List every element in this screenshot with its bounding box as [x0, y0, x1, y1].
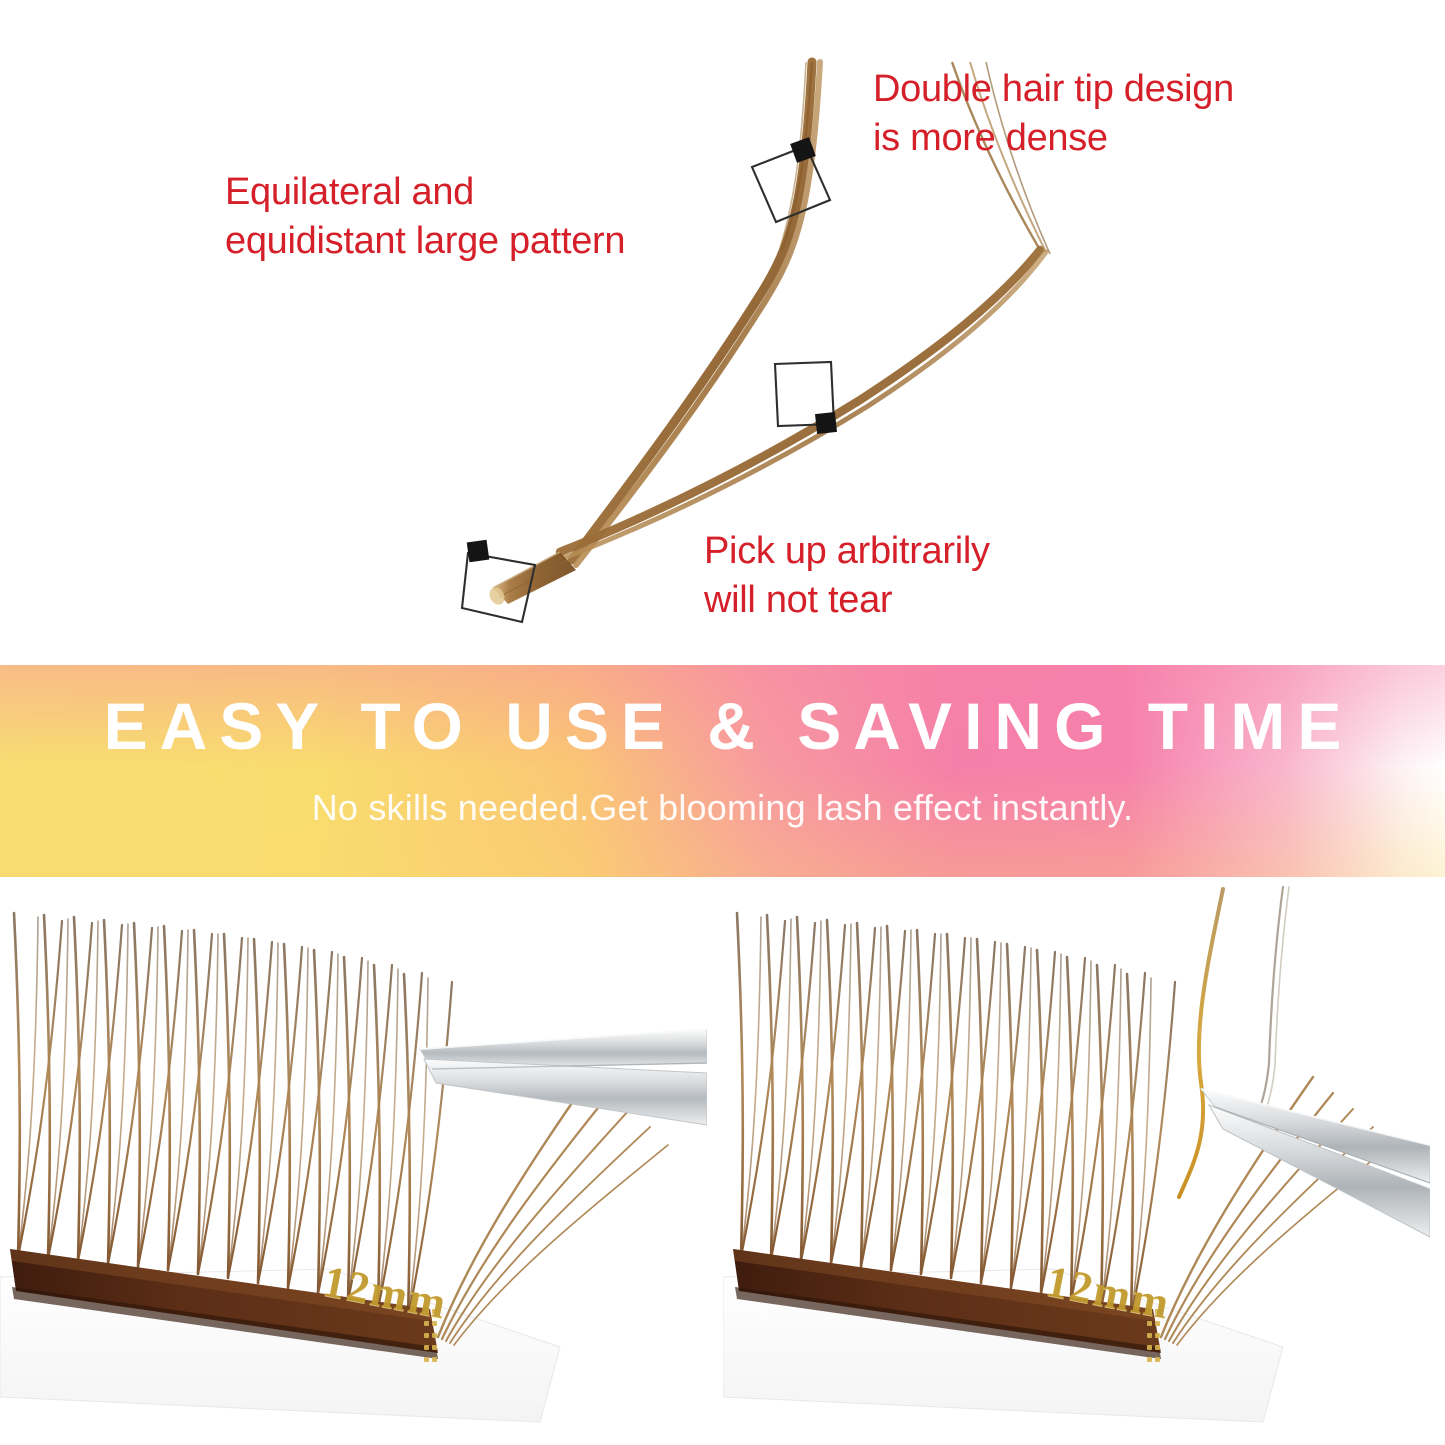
callout-marker-double-tip: [752, 137, 830, 222]
banner-subtitle: No skills needed.Get blooming lash effec…: [0, 788, 1445, 828]
top-illustration-section: Equilateral and equidistant large patter…: [0, 0, 1445, 665]
callout-label-pick-up: Pick up arbitrarily will not tear: [704, 527, 990, 624]
tweezers-icon-right: [1201, 1089, 1430, 1237]
product-photo-right: 12mm: [723, 877, 1430, 1445]
tweezers-icon-left: [420, 1029, 707, 1125]
callout-label-equilateral: Equilateral and equidistant large patter…: [225, 168, 625, 265]
lash-strip-photo-right: [723, 877, 1430, 1445]
promo-banner: EASY TO USE & SAVING TIME No skills need…: [0, 665, 1445, 877]
callout-label-double-tip: Double hair tip design is more dense: [873, 65, 1234, 162]
lash-strip-photo-left: [0, 877, 707, 1445]
callout-marker-pick-up: [775, 362, 837, 434]
product-photo-row: 12mm: [0, 877, 1445, 1445]
fiber-bundle-right: [560, 250, 1046, 558]
product-photo-left: 12mm: [0, 877, 707, 1445]
banner-title: EASY TO USE & SAVING TIME: [0, 693, 1445, 759]
